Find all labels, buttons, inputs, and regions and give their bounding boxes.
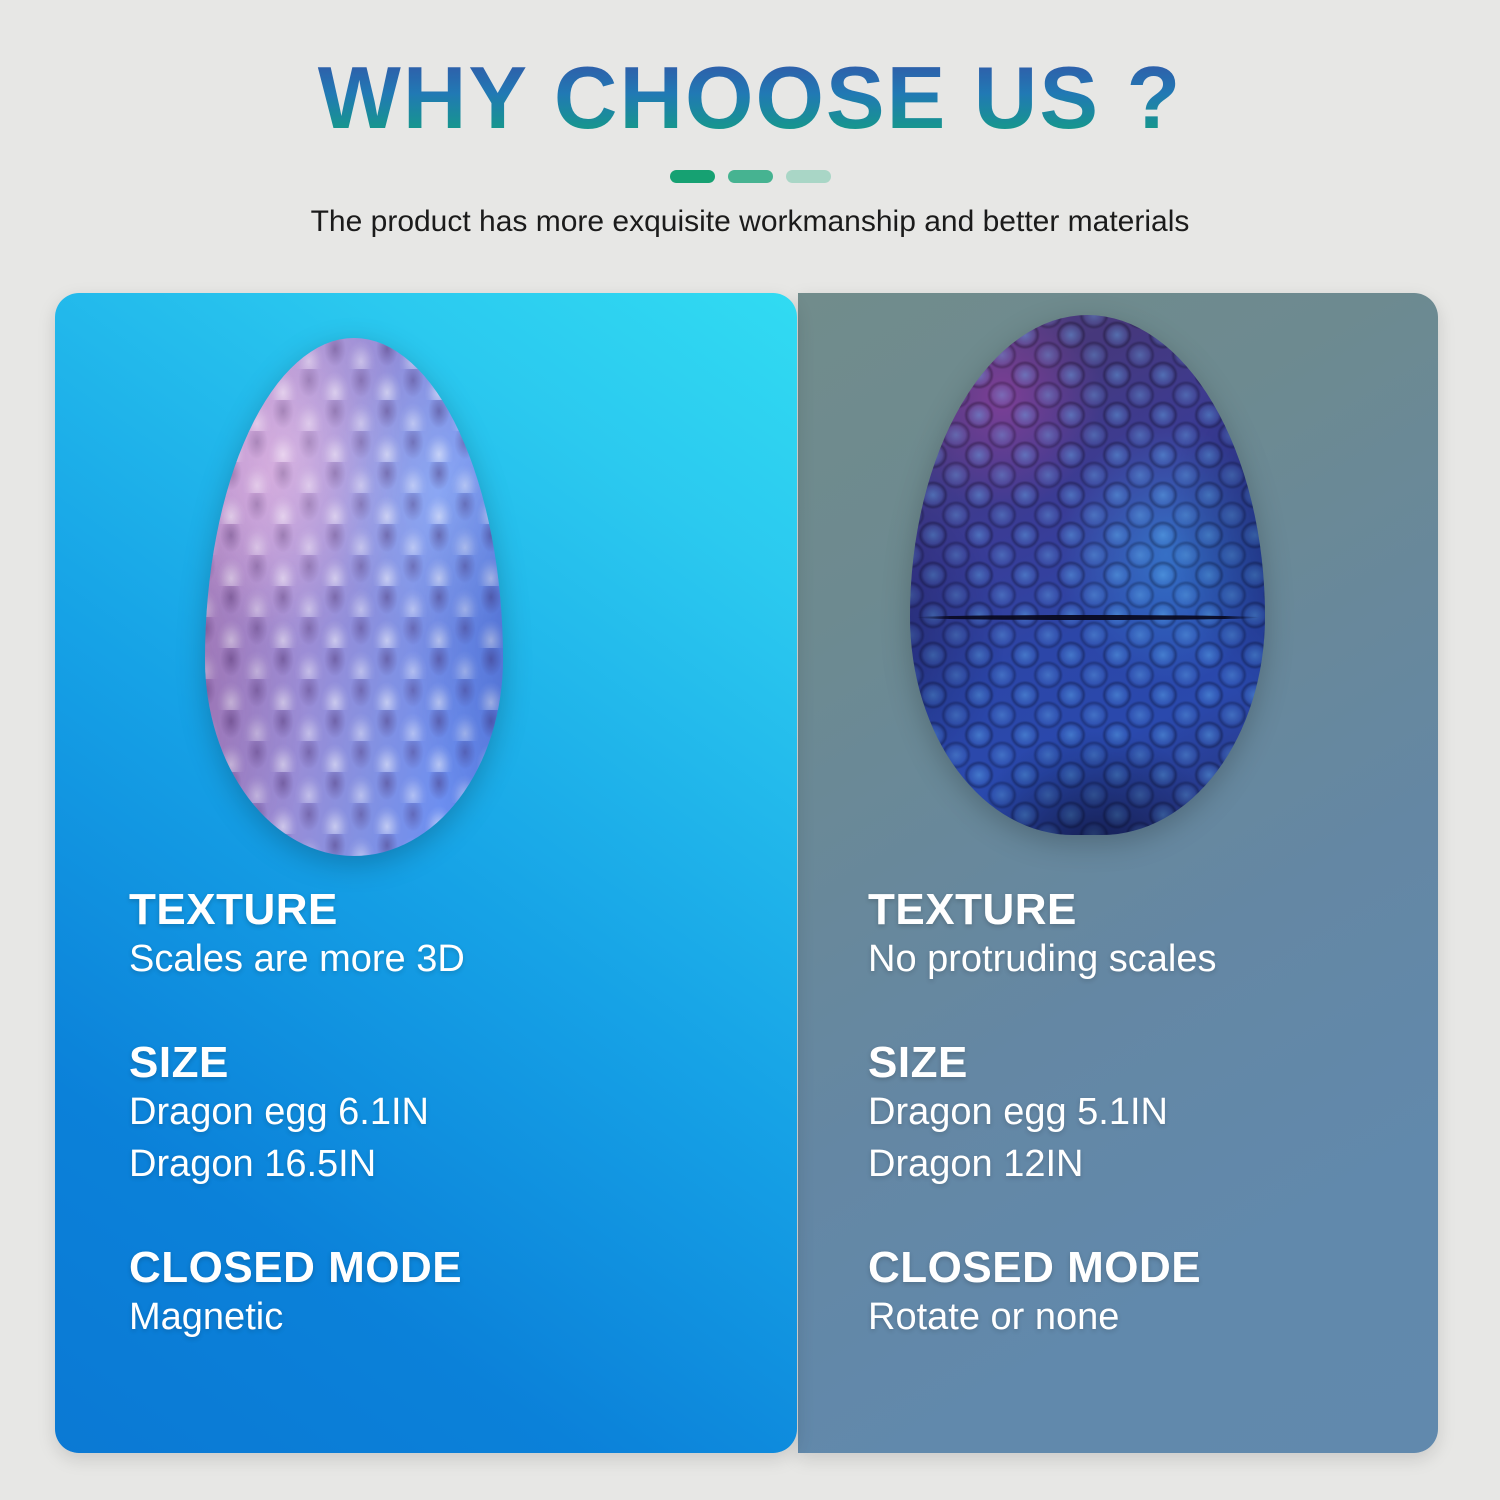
- header: WHY CHOOSE US ? The product has more exq…: [0, 0, 1500, 270]
- spec-head-size: SIZE: [129, 1038, 749, 1087]
- page-title: WHY CHOOSE US ?: [0, 52, 1500, 144]
- spec-group-closed-mode: CLOSED MODE Rotate or none: [868, 1243, 1428, 1344]
- egg-render: [910, 315, 1265, 835]
- comparison-panels: TEXTURE Scales are more 3D SIZE Dragon e…: [55, 293, 1438, 1453]
- page-subtitle: The product has more exquisite workmansh…: [0, 205, 1500, 239]
- spec-head-size: SIZE: [868, 1038, 1428, 1087]
- spec-group-texture: TEXTURE No protruding scales: [868, 885, 1428, 986]
- panel-ours: TEXTURE Scales are more 3D SIZE Dragon e…: [55, 293, 797, 1453]
- spec-group-size: SIZE Dragon egg 5.1IN Dragon 12IN: [868, 1038, 1428, 1191]
- spec-head-texture: TEXTURE: [868, 885, 1428, 934]
- spec-line-size-2: Dragon 12IN: [868, 1139, 1428, 1191]
- spec-line-closed-mode-1: Rotate or none: [868, 1292, 1428, 1344]
- dragon-egg-smooth-image: [910, 315, 1265, 835]
- spec-head-closed-mode: CLOSED MODE: [868, 1243, 1428, 1292]
- infographic-page: WHY CHOOSE US ? The product has more exq…: [0, 0, 1500, 1500]
- specs-theirs: TEXTURE No protruding scales SIZE Dragon…: [868, 885, 1428, 1343]
- spec-line-size-1: Dragon egg 5.1IN: [868, 1087, 1428, 1139]
- dragon-egg-textured-image: [205, 338, 503, 856]
- spec-line-closed-mode-1: Magnetic: [129, 1292, 749, 1344]
- specs-ours: TEXTURE Scales are more 3D SIZE Dragon e…: [129, 885, 749, 1343]
- dash-3: [786, 170, 831, 183]
- decorative-dashes: [0, 170, 1500, 183]
- spec-group-closed-mode: CLOSED MODE Magnetic: [129, 1243, 749, 1344]
- dash-1: [670, 170, 715, 183]
- egg-shading: [205, 338, 503, 856]
- spec-group-texture: TEXTURE Scales are more 3D: [129, 885, 749, 986]
- spec-line-size-1: Dragon egg 6.1IN: [129, 1087, 749, 1139]
- spec-group-size: SIZE Dragon egg 6.1IN Dragon 16.5IN: [129, 1038, 749, 1191]
- spec-line-size-2: Dragon 16.5IN: [129, 1139, 749, 1191]
- panel-theirs: TEXTURE No protruding scales SIZE Dragon…: [798, 293, 1438, 1453]
- spec-head-closed-mode: CLOSED MODE: [129, 1243, 749, 1292]
- spec-line-texture-1: No protruding scales: [868, 934, 1428, 986]
- egg-shading: [910, 315, 1265, 835]
- spec-line-texture-1: Scales are more 3D: [129, 934, 749, 986]
- egg-render: [205, 338, 503, 856]
- dash-2: [728, 170, 773, 183]
- spec-head-texture: TEXTURE: [129, 885, 749, 934]
